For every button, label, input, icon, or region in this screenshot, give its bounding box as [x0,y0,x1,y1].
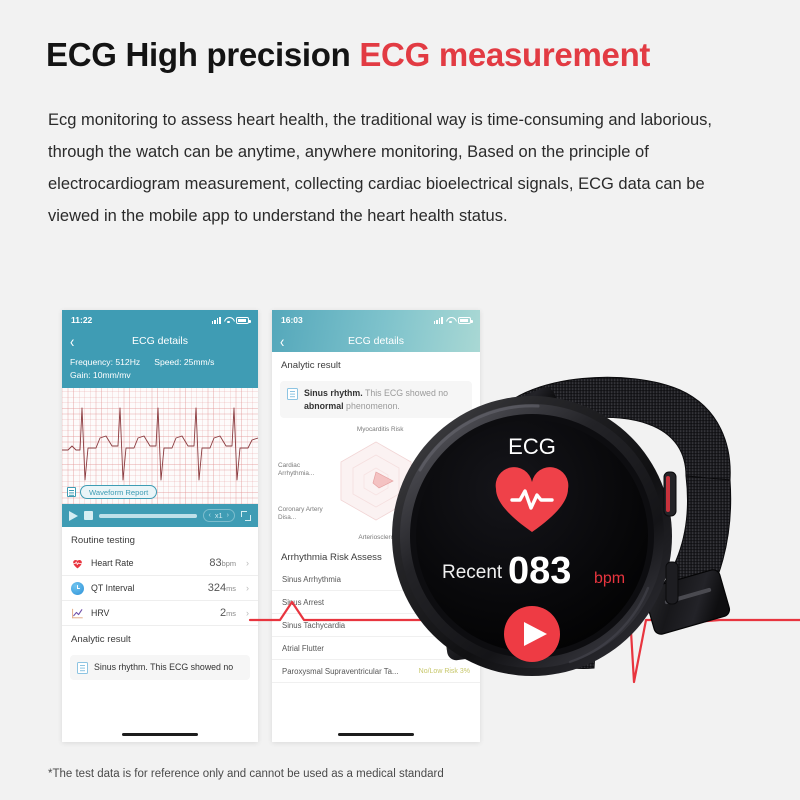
chevron-right-icon[interactable]: › [246,583,249,593]
footnote-disclaimer: *The test data is for reference only and… [48,768,444,780]
clock-icon [71,582,84,595]
list-item-label: Heart Rate [91,558,202,568]
wifi-icon [446,317,455,324]
page-title: ECG High precision ECG measurement [46,36,650,74]
page-title-dark: ECG High precision [46,36,359,73]
param-gain: Gain: 10mm/mv [70,369,250,382]
watch-play-button [504,606,560,662]
intro-paragraph: Ecg monitoring to assess heart health, t… [48,104,760,232]
playback-speed-label: x1 [215,511,223,520]
chevron-left-icon[interactable]: ‹ [209,512,211,519]
status-time: 11:22 [71,315,92,325]
status-time: 16:03 [281,315,303,325]
hrv-icon [71,607,84,620]
routine-testing-list: Heart Rate 83bpm › QT Interval 324ms › H… [62,551,258,626]
list-item-value: 324ms [208,582,236,594]
analytic-result-title: Analytic result [62,626,258,650]
watch-bpm-unit: bpm [594,570,625,587]
list-item[interactable]: Heart Rate 83bpm › [62,551,258,576]
ecg-waveform-chart: Waveform Report [62,388,258,504]
watch-screen-title: ECG [508,434,556,459]
waveform-report-badge[interactable]: Waveform Report [80,485,157,499]
battery-icon [236,317,249,324]
smartwatch-product-image: ECG Recent 083 bpm [380,350,760,730]
status-bar: 16:03 [272,310,480,330]
report-icon [287,388,298,400]
home-indicator [338,733,414,736]
list-item[interactable]: QT Interval 324ms › [62,576,258,601]
signal-bars-icon [212,317,221,324]
status-bar: 11:22 [62,310,258,330]
phone-screenshot-left: 11:22 ‹ ECG details Frequency: 512Hz Spe… [62,310,258,742]
list-item-value: 83bpm [209,557,236,569]
nav-bar: ‹ ECG details [62,330,258,352]
ecg-parameters: Frequency: 512Hz Speed: 25mm/s Gain: 10m… [62,352,258,388]
list-item[interactable]: HRV 2ms › [62,601,258,626]
play-icon[interactable] [69,511,78,521]
chevron-right-icon[interactable]: › [246,608,249,618]
analytic-result-card: Sinus rhythm. This ECG showed no [70,655,250,680]
page-title-accent: ECG measurement [359,36,650,73]
chevron-right-icon[interactable]: › [246,558,249,568]
battery-icon [458,317,471,324]
watch-recent-label: Recent [442,562,503,583]
analytic-bold: Sinus rhythm. [304,388,363,398]
signal-bars-icon [434,317,443,324]
expand-icon[interactable] [241,511,251,521]
routine-testing-title: Routine testing [62,527,258,551]
analytic-result-text: Sinus rhythm. This ECG showed no [94,661,233,674]
param-speed: Speed: 25mm/s [154,356,214,369]
report-icon [77,662,88,674]
nav-bar: ‹ ECG details [272,330,480,352]
param-frequency: Frequency: 512Hz [70,356,140,369]
chevron-left-icon[interactable]: ‹ [280,333,284,349]
radar-label-bottom-left: Coronary Artery Disa... [278,506,324,522]
playback-toolbar[interactable]: ‹ x1 › [62,504,258,527]
analytic-line2-bold: abnormal [304,401,344,411]
document-icon [67,487,76,497]
playback-speed-control[interactable]: ‹ x1 › [203,509,236,522]
heart-icon [71,557,84,570]
list-item-value: 2ms [220,607,236,619]
list-item-label: QT Interval [91,583,201,593]
stop-icon[interactable] [84,511,93,520]
radar-label-left: Cardiac Arrhythmia... [278,462,324,478]
home-indicator [122,733,198,736]
watch-bpm-value: 083 [508,550,571,592]
nav-title: ECG details [272,335,480,347]
list-item-label: HRV [91,608,213,618]
nav-title: ECG details [62,335,258,347]
playback-progress-bar[interactable] [99,514,197,518]
chevron-right-icon[interactable]: › [227,512,229,519]
wifi-icon [224,317,233,324]
chevron-left-icon[interactable]: ‹ [70,333,74,349]
waveform-report-control[interactable]: Waveform Report [67,485,157,499]
